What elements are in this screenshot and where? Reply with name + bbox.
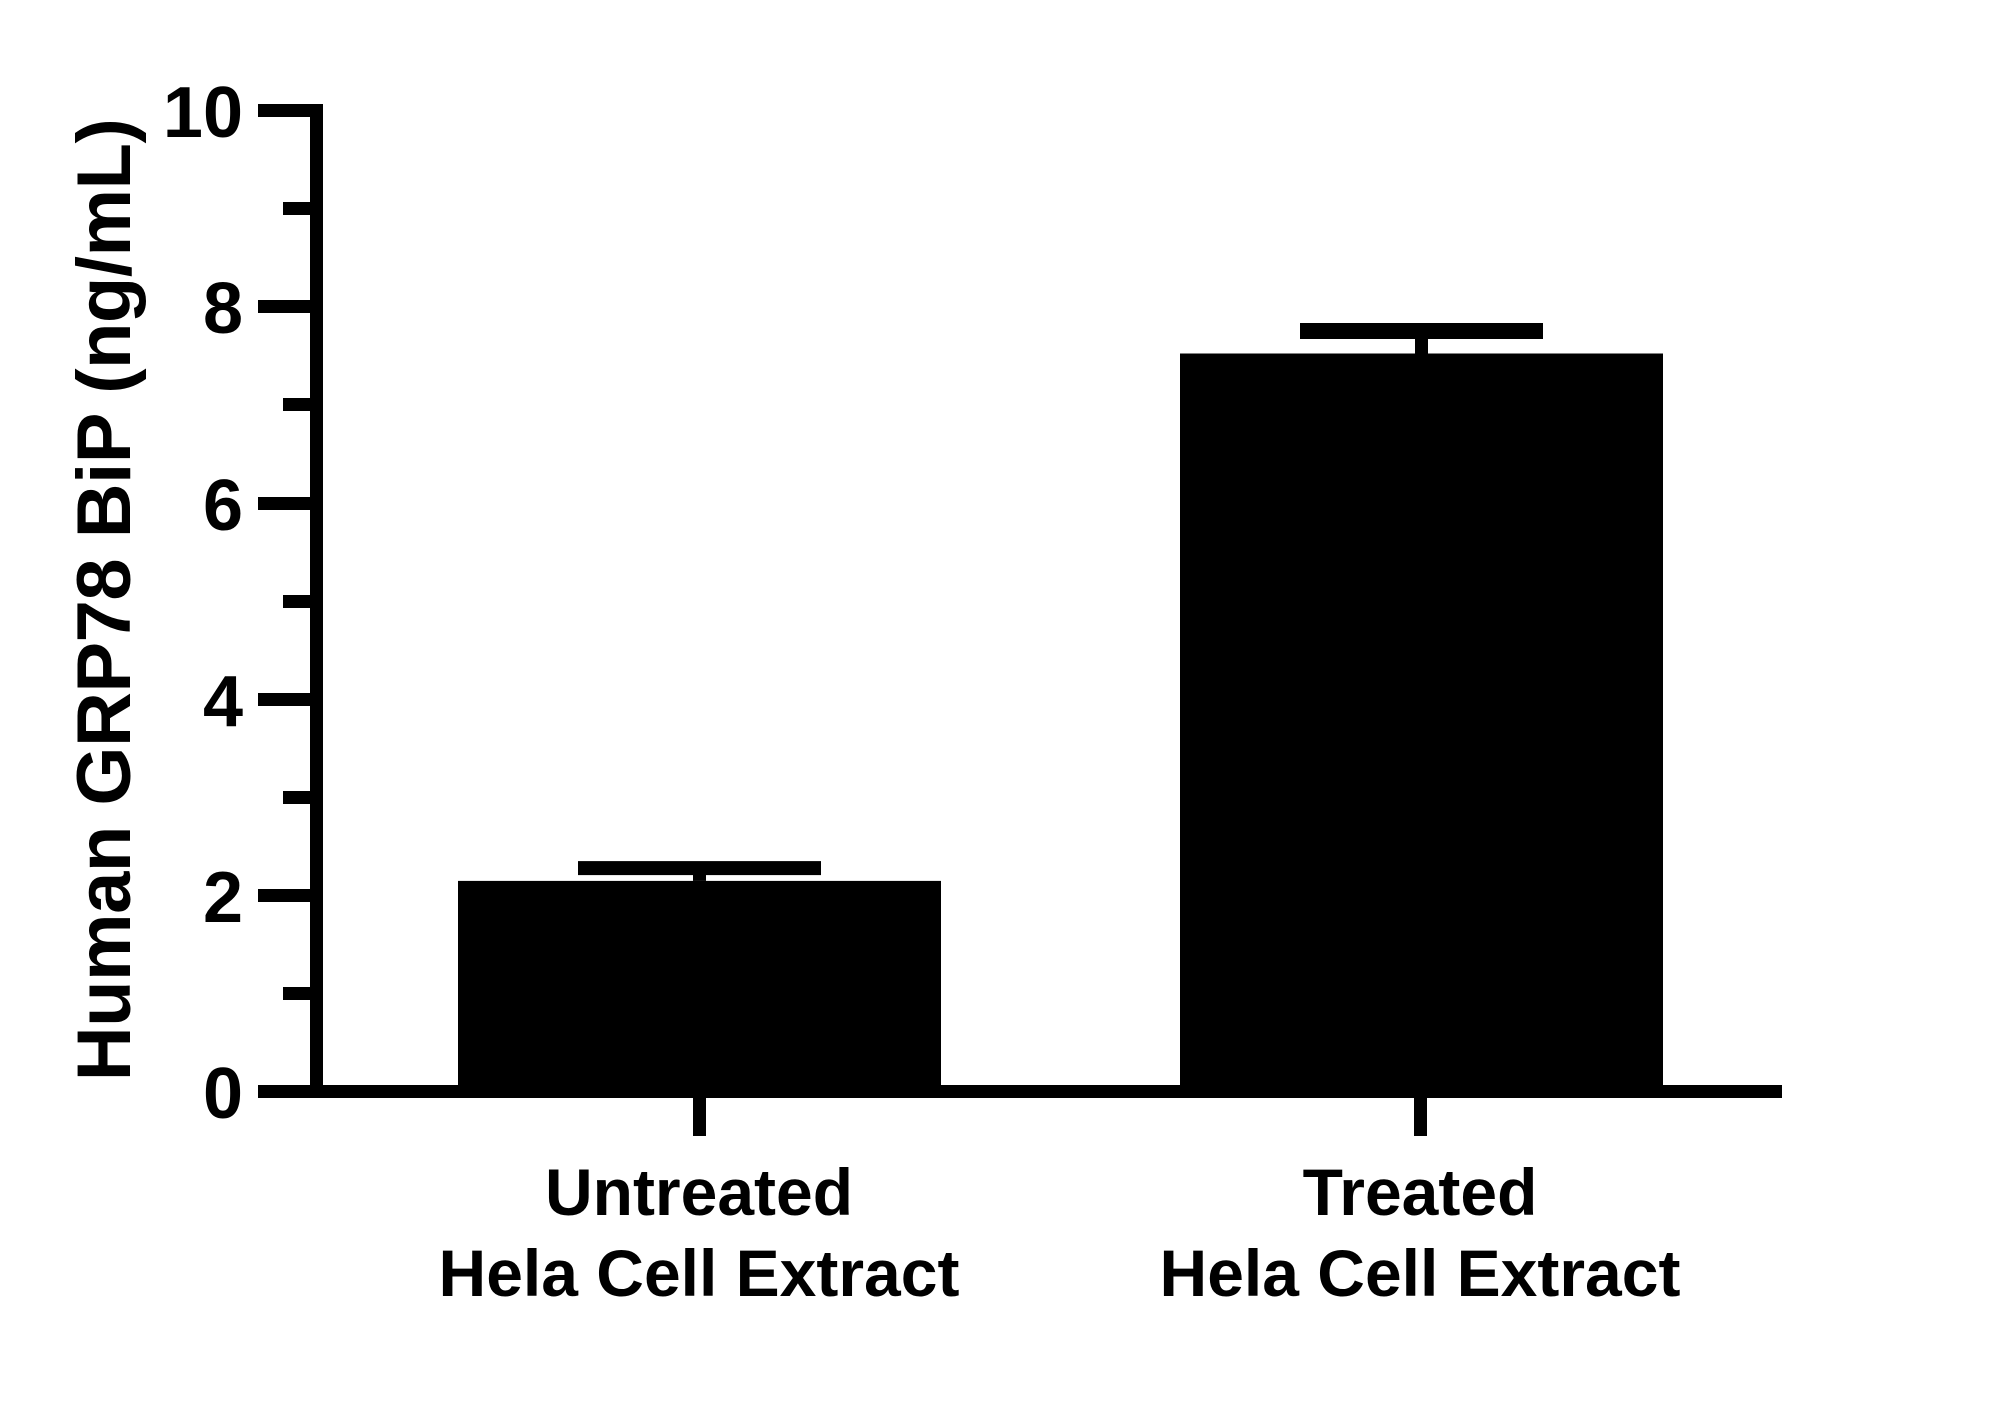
x-label-treated-line2: Hela Cell Extract — [1160, 1236, 1681, 1310]
chart-canvas: 10 8 6 4 2 0 Human GRP78 BiP (ng/mL) — [0, 0, 2000, 1415]
y-axis-major-tick-2 — [258, 889, 313, 902]
y-axis-title: Human GRP78 BiP (ng/mL) — [62, 119, 147, 1082]
y-tick-label-4: 4 — [203, 662, 243, 742]
y-tick-label-8: 8 — [203, 269, 243, 349]
x-axis-tick-treated — [1414, 1098, 1427, 1136]
y-axis-minor-tick-3 — [283, 791, 313, 804]
y-axis-major-tick-0 — [258, 1085, 313, 1098]
x-label-untreated-line1: Untreated — [545, 1155, 853, 1229]
y-tick-label-2: 2 — [203, 858, 243, 938]
y-axis-major-tick-8 — [258, 300, 313, 313]
y-axis-minor-tick-5 — [283, 595, 313, 608]
x-axis-tick-untreated — [693, 1098, 706, 1136]
y-axis-major-tick-6 — [258, 497, 313, 510]
bar-untreated — [458, 881, 941, 1092]
x-label-untreated-line2: Hela Cell Extract — [439, 1236, 960, 1310]
y-axis-minor-tick-1 — [283, 987, 313, 1000]
error-bar-cap-untreated — [578, 861, 821, 875]
y-tick-label-0: 0 — [203, 1054, 243, 1134]
bar-treated — [1180, 354, 1663, 1093]
y-axis-minor-tick-7 — [283, 398, 313, 411]
y-tick-label-10: 10 — [163, 73, 243, 153]
bar-chart-figure: 10 8 6 4 2 0 Human GRP78 BiP (ng/mL) — [0, 0, 2000, 1415]
x-label-treated-line1: Treated — [1303, 1155, 1538, 1229]
error-bar-cap-treated — [1300, 323, 1543, 339]
y-axis-major-tick-4 — [258, 693, 313, 706]
y-tick-label-6: 6 — [203, 466, 243, 546]
y-axis-major-tick-10 — [258, 104, 313, 117]
y-axis-minor-tick-9 — [283, 202, 313, 215]
